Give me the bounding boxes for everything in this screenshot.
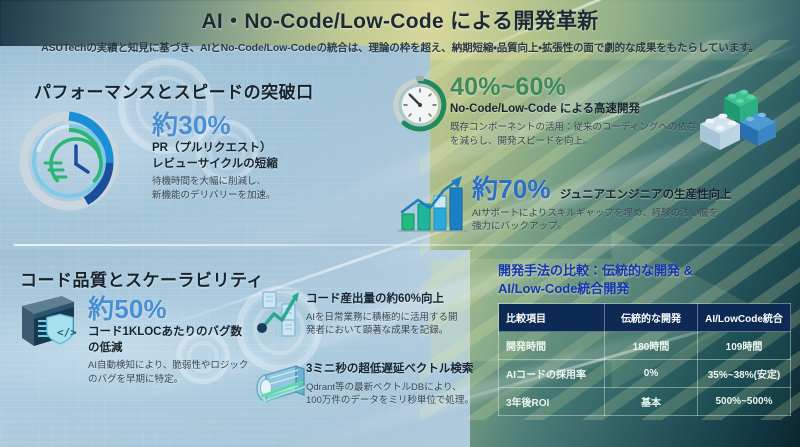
stat-desc-line: 待機時間を大幅に削減し、 [152,176,266,187]
table-cell-traditional: 180時間 [605,332,698,360]
table-cell-label: 開発時間 [499,332,605,360]
table-cell-traditional: 基本 [605,388,698,416]
table-header-cell: 比較項目 [499,304,605,332]
stat-vector-search: 3ミニ秒の超低遅延ベクトル検索 Qdrant等の最新ベクトルDBにより、 100… [306,362,516,408]
stat-desc-junior-productivity: AIサポートによりスキルギャップを埋め、経験の浅い層を 強力にバックアップ。 [472,207,800,235]
stat-desc-line: 100万件のデータをミリ秒単位で処理。 [306,395,474,406]
section-heading-performance: パフォーマンスとスピードの突破口 [34,78,314,103]
stat-desc-code-output: AIを日常業務に積極的に活用する開 発者において顕著な成果を記録。 [306,311,506,339]
page-subtitle: ASUTechの実績と知見に基づき、AIとNo-Code/Low-Codeの統合… [0,35,800,55]
stat-value-junior-productivity: 約70% [472,176,551,203]
comparison-title-line: AI/Low-Code統合開発 [498,281,629,296]
document-trend-icon [254,288,308,340]
table-row: 3年後ROI 基本 500%~500% [499,388,791,416]
stat-lead-line: の低減 [88,342,123,354]
stat-desc-nocode-speed: 既存コンポーネントの活用：従来のコーディングへの依存 を減らし、開発スピードを向… [450,121,750,149]
table-header-cell: AI/LowCode統合 [698,304,791,332]
stat-value-pr-review: 約30% [152,112,302,139]
table-cell-ai: 109時間 [698,332,791,360]
stat-desc-line: AI自動検知により、脆弱性やロジック [88,360,248,371]
table-cell-ai: 500%~500% [698,388,791,416]
table-header-cell: 伝統的な開発 [605,304,698,332]
stat-desc-line: Qdrant等の最新ベクトルDBにより、 [306,382,462,393]
stat-desc-line: のバグを早期に特定。 [88,374,183,385]
stat-nocode-speed: 40%~60% No-Code/Low-Code による高速開発 既存コンポーネ… [450,74,750,148]
stat-value-nocode-speed: 40%~60% [450,74,750,100]
table-cell-traditional: 0% [605,360,698,388]
stat-desc-line: 発者において顕著な成果を記録。 [306,325,448,336]
table-cell-label: AIコードの採用率 [499,360,605,388]
stat-desc-line: 既存コンポーネントの活用：従来のコーディングへの依存 [450,122,696,133]
stat-lead-vector-search: 3ミニ秒の超低遅延ベクトル検索 [306,362,516,378]
stat-desc-line: AIを日常業務に積極的に活用する開 [306,312,457,323]
page-title: AI・No-Code/Low-Code による開発革新 [0,0,800,35]
stat-lead-code-output: コード産出量の約60%向上 [306,292,506,308]
comparison-panel: 開発手法の比較：伝統的な開発 & AI/Low-Code統合開発 比較項目 伝統… [498,262,790,416]
donut-clock-icon [14,106,124,216]
stat-lead-line: コード1KLOCあたりのバグ数 [88,326,242,338]
stat-desc-line: 強力にバックアップ。 [472,221,567,232]
stat-lead-nocode-speed: No-Code/Low-Code による高速開発 [450,102,750,118]
stat-lead-junior-productivity: ジュニアエンジニアの生産性向上 [560,188,732,204]
stat-desc-line: 新機能のデリバリーを加速。 [152,190,276,201]
comparison-table: 比較項目 伝統的な開発 AI/LowCode統合 開発時間 180時間 109時… [498,303,791,416]
stat-lead-line: レビューサイクルの短縮 [152,158,278,170]
stat-pr-review: 約30% PR（プルリクエスト） レビューサイクルの短縮 待機時間を大幅に削減し… [152,112,302,203]
code-shield-icon: </> [16,292,88,356]
stat-desc-vector-search: Qdrant等の最新ベクトルDBにより、 100万件のデータをミリ秒単位で処理。 [306,381,516,409]
vector-tunnel-icon [252,358,310,412]
comparison-title-line: 開発手法の比較：伝統的な開発 & [498,263,693,278]
table-cell-ai: 35%~38%(安定) [698,360,791,388]
stat-desc-line: AIサポートによりスキルギャップを埋め、経験の浅い層を [472,208,718,219]
header: AI・No-Code/Low-Code による開発革新 ASUTechの実績と知… [0,0,800,52]
stopwatch-icon [392,74,448,132]
section-divider [14,244,784,246]
table-cell-label: 3年後ROI [499,388,605,416]
stat-desc-pr-review: 待機時間を大幅に削減し、 新機能のデリバリーを加速。 [152,175,302,203]
stat-lead-pr-review: PR（プルリクエスト） レビューサイクルの短縮 [152,141,302,172]
stat-desc-line: を減らし、開発スピードを向上。 [450,136,593,147]
table-header-row: 比較項目 伝統的な開発 AI/LowCode統合 [499,304,791,332]
stat-code-output: コード産出量の約60%向上 AIを日常業務に積極的に活用する開 発者において顕著… [306,292,506,338]
comparison-title: 開発手法の比較：伝統的な開発 & AI/Low-Code統合開発 [498,262,790,297]
infographic-canvas: AI・No-Code/Low-Code による開発革新 ASUTechの実績と知… [0,0,800,447]
section-heading-quality: コード品質とスケーラビリティ [20,266,264,291]
stat-lead-line: PR（プルリクエスト） [152,142,271,154]
stat-junior-productivity: 約70% ジュニアエンジニアの生産性向上 AIサポートによりスキルギャップを埋め… [472,176,800,234]
table-row: 開発時間 180時間 109時間 [499,332,791,360]
growth-bars-icon [396,172,470,236]
table-row: AIコードの採用率 0% 35%~38%(安定) [499,360,791,388]
svg-text:</>: </> [57,326,77,339]
